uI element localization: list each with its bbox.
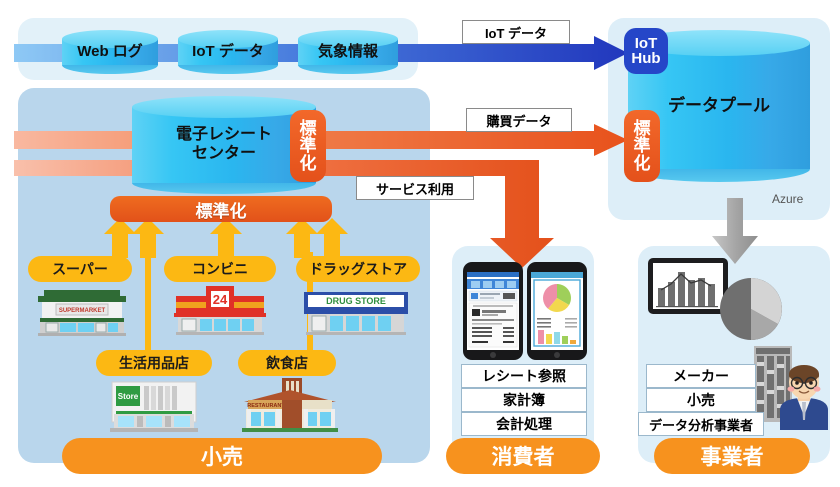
store-pill-household-goods[interactable]: 生活用品店 [96,350,212,376]
store-pill-restaurant[interactable]: 飲食店 [238,350,336,376]
source-label: IoT データ [178,43,278,61]
banner-consumer[interactable]: 消費者 [446,438,600,474]
source-web-log[interactable]: Web ログ [62,30,158,74]
feature-label: 会計処理 [496,414,552,434]
store-pill-convenience[interactable]: コンビニ [164,256,276,282]
feature-label: レシート参照 [482,366,566,386]
flow-label-iot-data: IoT データ [462,20,570,44]
std-char-3: 化 [300,155,317,172]
actor-label: データ分析事業者 [649,415,753,434]
azure-platform-label: Azure [772,192,803,206]
standardization-bar[interactable]: 標準化 [110,196,332,222]
source-label: Web ログ [62,43,158,61]
svg-text:DRUG STORE: DRUG STORE [326,296,386,306]
store-illustration-convenience: 24 [170,282,270,336]
std-char-2: 準 [300,137,317,154]
receipt-center-label: 電子レシート センター [132,126,316,164]
flow-label-text: IoT データ [485,23,547,42]
store-pill-supermarket[interactable]: スーパー [28,256,132,282]
diagram-canvas: Web ログ IoT データ 気象情報 データプール IoT Hub 標 準 化… [0,0,840,487]
data-pool-standardization-badge[interactable]: 標 準 化 [624,110,660,182]
phone-receipt-app[interactable] [463,262,523,360]
actor-label: メーカー [673,366,729,386]
receipt-center-line1: 電子レシート [132,126,316,145]
flow-label-text: サービス利用 [376,179,454,198]
business-actor-retail[interactable]: 小売 [646,388,756,412]
svg-text:RESTAURANT: RESTAURANT [247,403,285,409]
banner-label: 消費者 [492,441,555,471]
banner-business[interactable]: 事業者 [654,438,810,474]
feature-label: 家計簿 [503,390,545,410]
store-label: ドラッグストア [309,259,407,279]
standardization-bar-label: 標準化 [196,197,247,222]
flow-label-service-usage: サービス利用 [356,176,474,200]
source-label: 気象情報 [298,43,398,61]
iot-hub-line2: Hub [631,51,660,66]
svg-text:24: 24 [213,292,228,307]
consumer-feature-accounting[interactable]: 会計処理 [461,412,587,436]
businessman-avatar [776,358,832,430]
receipt-center-standardization-badge[interactable]: 標 準 化 [290,110,326,182]
consumer-feature-receipt-view[interactable]: レシート参照 [461,364,587,388]
std-char-3: 化 [634,155,651,172]
svg-text:SUPERMARKET: SUPERMARKET [59,308,106,314]
store-label: 飲食店 [266,353,308,373]
std-char-1: 標 [300,120,317,137]
store-label: 生活用品店 [119,353,189,373]
store-pill-drugstore[interactable]: ドラッグストア [296,256,420,282]
receipt-center-line2: センター [132,145,316,164]
store-label: スーパー [52,259,108,279]
receipt-center-cylinder[interactable]: 電子レシート センター [132,96,316,194]
business-actor-data-analytics[interactable]: データ分析事業者 [638,412,764,436]
consumer-feature-household-account[interactable]: 家計簿 [461,388,587,412]
store-illustration-supermarket: SUPERMARKET [34,286,130,336]
std-char-2: 準 [634,137,651,154]
store-illustration-restaurant: RESTAURANT [238,376,342,434]
svg-text:Store: Store [118,392,139,401]
banner-label: 小売 [201,441,243,471]
arrow-to-business [712,198,758,264]
phone-analytics-app[interactable] [527,262,587,360]
cylinder-top [132,96,316,118]
pie-chart-business [718,276,784,342]
store-illustration-drugstore: DRUG STORE [300,286,412,336]
store-illustration-household-goods: Store [104,378,204,434]
source-weather-info[interactable]: 気象情報 [298,30,398,74]
iot-hub-badge[interactable]: IoT Hub [624,28,668,74]
banner-label: 事業者 [701,441,764,471]
source-iot-data[interactable]: IoT データ [178,30,278,74]
actor-label: 小売 [687,390,715,410]
business-actor-maker[interactable]: メーカー [646,364,756,388]
iot-hub-line1: IoT [635,36,658,51]
flow-label-purchase-data: 購買データ [466,108,572,132]
flow-label-text: 購買データ [486,111,551,130]
store-label: コンビニ [192,259,248,279]
tablet-bar-chart [648,258,728,318]
banner-retail[interactable]: 小売 [62,438,382,474]
std-char-1: 標 [634,120,651,137]
